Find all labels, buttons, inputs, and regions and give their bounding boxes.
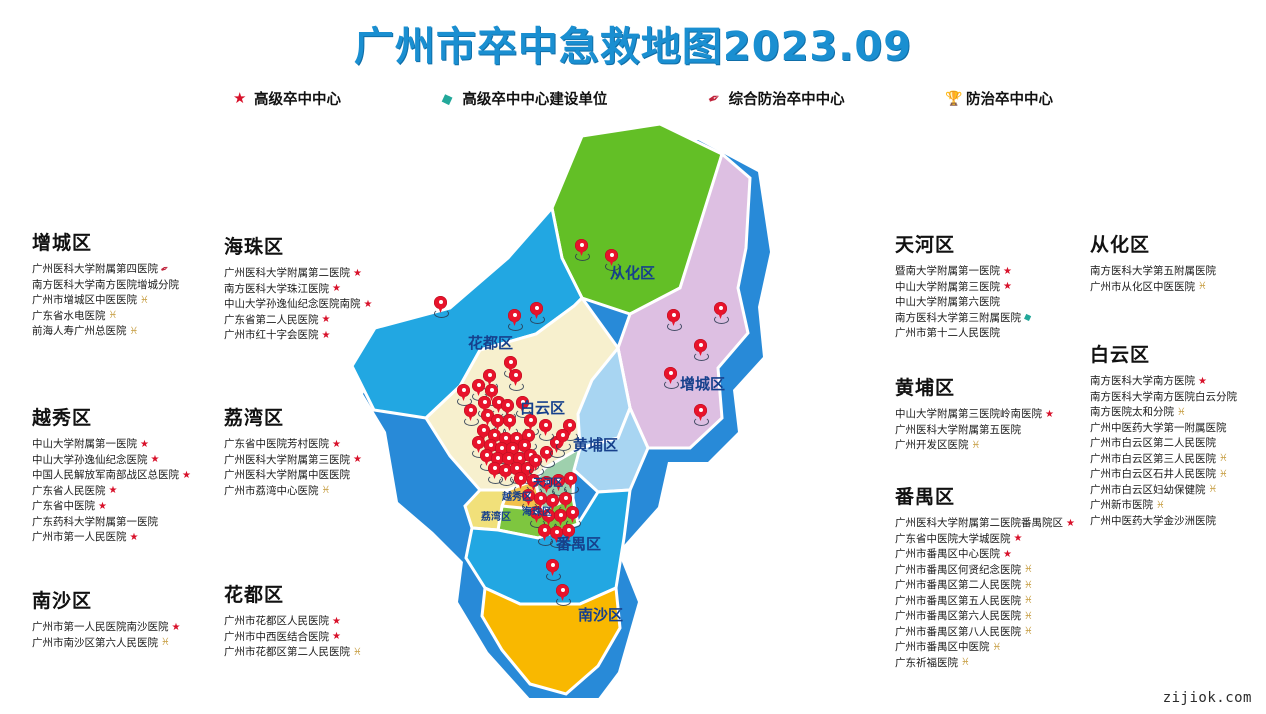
hospital-name: 广州市白云区第二人民医院 [1090, 436, 1216, 452]
hospital-list-tianhe: 暨南大学附属第一医院★中山大学附属第三医院★中山大学附属第六医院南方医科大学第三… [895, 264, 1032, 342]
hospital-list-haizhu: 广州医科大学附属第二医院★南方医科大学珠江医院★中山大学孙逸仙纪念医院南院★广东… [224, 266, 372, 344]
district-block-tianhe: 天河区 暨南大学附属第一医院★中山大学附属第三医院★中山大学附属第六医院南方医科… [895, 230, 1032, 342]
hospital-list-item: 广州新市医院♓ [1090, 498, 1237, 514]
hospital-list-item: 广州市番禺区第二人民医院♓ [895, 578, 1075, 594]
map-pin-icon[interactable] [516, 396, 529, 414]
hospital-name: 南方医科大学南方医院白云分院 [1090, 390, 1237, 406]
map-pin-icon[interactable] [556, 429, 569, 447]
map-pin-icon[interactable] [509, 369, 522, 387]
star-icon: ★ [172, 623, 181, 633]
hospital-list-item: 前海人寿广州总医院♓ [32, 324, 179, 340]
district-title-liwan: 荔湾区 [224, 403, 362, 430]
hospital-list-item: 广州市白云区第二人民医院 [1090, 436, 1237, 452]
trophy-icon: ♓ [1024, 627, 1033, 637]
hospital-list-item: 广州市白云区第三人民医院♓ [1090, 452, 1237, 468]
map-pin-icon[interactable] [694, 339, 707, 357]
map-pin-icon[interactable] [546, 559, 559, 577]
hospital-list-item: 广东省水电医院♓ [32, 309, 179, 325]
legend-label-prevention-center: 防治卒中中心 [966, 88, 1053, 109]
map-pin-icon[interactable] [556, 584, 569, 602]
hospital-list-item: 广州市第一人民医院★ [32, 530, 191, 546]
hospital-list-item: 中国人民解放军南部战区总医院★ [32, 468, 191, 484]
legend-item-prevention-center: 🏆 防治卒中中心 [945, 88, 1053, 109]
hospital-name: 广州医科大学附属中医医院 [224, 468, 350, 484]
district-block-yuexiu: 越秀区 中山大学附属第一医院★中山大学孙逸仙纪念医院★中国人民解放军南部战区总医… [32, 403, 191, 546]
hospital-list-huangpu: 中山大学附属第三医院岭南医院★广州医科大学附属第五医院广州开发区医院♓ [895, 407, 1054, 454]
hospital-list-item: 广州医科大学附属第四医院✒ [32, 262, 179, 278]
district-title-nansha: 南沙区 [32, 586, 180, 613]
hospital-list-item: 广州市花都区第二人民医院♓ [224, 645, 362, 661]
hospital-list-item: 广州市第十二人民医院 [895, 326, 1032, 342]
map-pin-icon[interactable] [664, 367, 677, 385]
hospital-name: 广州新市医院 [1090, 498, 1153, 514]
hospital-name: 广州开发区医院 [895, 438, 969, 454]
hospital-name: 广东省中医院芳村医院 [224, 437, 329, 453]
hospital-list-item: 广东省中医院大学城医院★ [895, 532, 1075, 548]
diamond-icon: ◆ [1023, 312, 1034, 324]
star-icon: ★ [1003, 282, 1012, 292]
hospital-list-baiyun: 南方医科大学南方医院★南方医科大学南方医院白云分院南方医院太和分院♓广州中医药大… [1090, 374, 1237, 529]
star-icon: ★ [1003, 267, 1012, 277]
trophy-icon: ♓ [972, 441, 981, 451]
hospital-list-item: 广州医科大学附属第二医院★ [224, 266, 372, 282]
watermark: zijiok.com [1163, 690, 1252, 706]
pen-icon: ✒ [159, 263, 171, 276]
hospital-name: 中山大学附属第三医院岭南医院 [895, 407, 1042, 423]
hospital-name: 南方医科大学第三附属医院 [895, 311, 1021, 327]
star-icon: ★ [1014, 534, 1023, 544]
hospital-name: 中山大学附属第三医院 [895, 280, 1000, 296]
district-block-zengcheng: 增城区 广州医科大学附属第四医院✒南方医科大学南方医院增城分院广州市增城区中医医… [32, 228, 179, 340]
hospital-name: 广州市红十字会医院 [224, 328, 319, 344]
hospital-name: 南方医科大学第五附属医院 [1090, 264, 1216, 280]
hospital-list-item: 广州市白云区石井人民医院♓ [1090, 467, 1237, 483]
district-title-panyu: 番禺区 [895, 482, 1075, 509]
hospital-list-item: 广州市番禺区第五人民医院♓ [895, 594, 1075, 610]
star-icon: ★ [1198, 377, 1207, 387]
hospital-list-item: 广州市第一人民医院南沙医院★ [32, 620, 180, 636]
hospital-list-item: 南方医科大学南方医院白云分院 [1090, 390, 1237, 406]
district-title-conghua: 从化区 [1090, 230, 1216, 257]
hospital-list-item: 广州市从化区中医医院♓ [1090, 280, 1216, 296]
hospital-name: 广州市白云区第三人民医院 [1090, 452, 1216, 468]
pen-icon: ✒ [705, 88, 725, 108]
hospital-list-panyu: 广州医科大学附属第二医院番禺院区★广东省中医院大学城医院★广州市番禺区中心医院★… [895, 516, 1075, 671]
map-pin-icon[interactable] [530, 302, 543, 320]
hospital-name: 广州市花都区人民医院 [224, 614, 329, 630]
trophy-icon: ♓ [1024, 581, 1033, 591]
trophy-icon: ♓ [1024, 596, 1033, 606]
map-pin-icon[interactable] [575, 239, 588, 257]
map-pin-icon[interactable] [472, 379, 485, 397]
hospital-list-liwan: 广东省中医院芳村医院★广州医科大学附属第三医院★广州医科大学附属中医医院广州市荔… [224, 437, 362, 499]
hospital-name: 广东祈福医院 [895, 656, 958, 672]
hospital-list-item: 广东祈福医院♓ [895, 656, 1075, 672]
hospital-list-item: 广州市中西医结合医院★ [224, 630, 362, 646]
hospital-list-item: 暨南大学附属第一医院★ [895, 264, 1032, 280]
district-title-baiyun: 白云区 [1090, 340, 1237, 367]
hospital-list-item: 广州市红十字会医院★ [224, 328, 372, 344]
star-icon: ★ [1045, 410, 1054, 420]
hospital-list-item: 广州市荔湾中心医院♓ [224, 484, 362, 500]
map-pin-icon[interactable] [694, 404, 707, 422]
map-pin-icon[interactable] [566, 506, 579, 524]
trophy-icon: 🏆 [945, 91, 960, 106]
star-icon: ★ [364, 300, 373, 310]
hospital-name: 广州市番禺区第五人民医院 [895, 594, 1021, 610]
star-icon: ★ [233, 91, 248, 106]
hospital-list-item: 广州中医药大学第一附属医院 [1090, 421, 1237, 437]
trophy-icon: ♓ [1024, 612, 1033, 622]
map-pin-icon[interactable] [605, 249, 618, 267]
hospital-list-item: 广州市南沙区第六人民医院♓ [32, 636, 180, 652]
hospital-name: 广东省中医院大学城医院 [895, 532, 1011, 548]
star-icon: ★ [332, 284, 341, 294]
hospital-list-item: 广州市花都区人民医院★ [224, 614, 362, 630]
star-icon: ★ [140, 440, 149, 450]
trophy-icon: ♓ [1198, 282, 1207, 292]
hospital-list-item: 广东省中医院★ [32, 499, 191, 515]
hospital-name: 广东省人民医院 [32, 484, 106, 500]
hospital-name: 广东药科大学附属第一医院 [32, 515, 158, 531]
hospital-name: 广州市番禺区第六人民医院 [895, 609, 1021, 625]
hospital-list-item: 中山大学附属第六医院 [895, 295, 1032, 311]
map-pin-icon[interactable] [464, 404, 477, 422]
hospital-name: 广州市增城区中医医院 [32, 293, 137, 309]
legend-item-comprehensive-center: ✒ 综合防治卒中中心 [708, 88, 845, 109]
hospital-name: 中山大学孙逸仙纪念医院 [32, 453, 148, 469]
district-title-yuexiu: 越秀区 [32, 403, 191, 430]
hospital-list-item: 广州医科大学附属第二医院番禺院区★ [895, 516, 1075, 532]
hospital-list-item: 南方医科大学南方医院增城分院 [32, 278, 179, 294]
map-pin-icon[interactable] [714, 302, 727, 320]
hospital-name: 前海人寿广州总医院 [32, 324, 127, 340]
hospital-name: 中山大学孙逸仙纪念医院南院 [224, 297, 361, 313]
legend-item-advanced-center: ★ 高级卒中中心 [233, 88, 341, 109]
star-icon: ★ [98, 502, 107, 512]
district-title-tianhe: 天河区 [895, 230, 1032, 257]
star-icon: ★ [1066, 519, 1075, 529]
map-pin-icon[interactable] [508, 309, 521, 327]
hospital-list-item: 广州市番禺区中心医院★ [895, 547, 1075, 563]
hospital-name: 南方医科大学南方医院增城分院 [32, 278, 179, 294]
hospital-list-conghua: 南方医科大学第五附属医院广州市从化区中医医院♓ [1090, 264, 1216, 295]
star-icon: ★ [322, 331, 331, 341]
map-pin-icon[interactable] [514, 472, 527, 490]
page-title-year: 2023.09 [723, 24, 912, 70]
hospital-name: 中国人民解放军南部战区总医院 [32, 468, 179, 484]
legend-label-advanced-center: 高级卒中中心 [254, 88, 341, 109]
page-title: 广州市卒中急救地图2023.09 [0, 14, 1266, 72]
hospital-list-item: 广州医科大学附属中医医院 [224, 468, 362, 484]
star-icon: ★ [332, 617, 341, 627]
hospital-list-item: 广州市番禺区第八人民医院♓ [895, 625, 1075, 641]
trophy-icon: ♓ [161, 638, 170, 648]
trophy-icon: ♓ [322, 486, 331, 496]
hospital-list-item: 广州开发区医院♓ [895, 438, 1054, 454]
hospital-name: 中山大学附属第六医院 [895, 295, 1000, 311]
hospital-name: 广州医科大学附属第三医院 [224, 453, 350, 469]
hospital-name: 南方医院太和分院 [1090, 405, 1174, 421]
district-block-haizhu: 海珠区 广州医科大学附属第二医院★南方医科大学珠江医院★中山大学孙逸仙纪念医院南… [224, 232, 372, 344]
hospital-name: 广州市从化区中医医院 [1090, 280, 1195, 296]
hospital-name: 南方医科大学南方医院 [1090, 374, 1195, 390]
map-pin-icon[interactable] [434, 296, 447, 314]
map-pin-icon[interactable] [457, 384, 470, 402]
hospital-list-item: 中山大学附属第一医院★ [32, 437, 191, 453]
district-block-huangpu: 黄埔区 中山大学附属第三医院岭南医院★广州医科大学附属第五医院广州开发区医院♓ [895, 373, 1054, 454]
hospital-list-item: 广州市番禺区中医院♓ [895, 640, 1075, 656]
hospital-list-item: 南方医科大学珠江医院★ [224, 282, 372, 298]
star-icon: ★ [109, 486, 118, 496]
trophy-icon: ♓ [1177, 408, 1186, 418]
hospital-name: 广州市中西医结合医院 [224, 630, 329, 646]
hospital-list-huadu: 广州市花都区人民医院★广州市中西医结合医院★广州市花都区第二人民医院♓ [224, 614, 362, 661]
hospital-list-item: 南方医科大学南方医院★ [1090, 374, 1237, 390]
hospital-name: 广州医科大学附属第五医院 [895, 423, 1021, 439]
map-pin-icon[interactable] [503, 414, 516, 432]
hospital-name: 广州市荔湾中心医院 [224, 484, 319, 500]
trophy-icon: ♓ [1219, 454, 1228, 464]
hospital-name: 广州市第十二人民医院 [895, 326, 1000, 342]
legend-label-advanced-building-unit: 高级卒中中心建设单位 [462, 88, 607, 109]
hospital-list-item: 中山大学附属第三医院★ [895, 280, 1032, 296]
map-pin-icon[interactable] [539, 419, 552, 437]
hospital-list-item: 广州市番禺区第六人民医院♓ [895, 609, 1075, 625]
hospital-list-item: 南方医院太和分院♓ [1090, 405, 1237, 421]
hospital-name: 广州市第一人民医院南沙医院 [32, 620, 169, 636]
district-block-baiyun: 白云区 南方医科大学南方医院★南方医科大学南方医院白云分院南方医院太和分院♓广州… [1090, 340, 1237, 529]
hospital-name: 广州市番禺区何贤纪念医院 [895, 563, 1021, 579]
hospital-name: 广州中医药大学金沙洲医院 [1090, 514, 1216, 530]
hospital-name: 广州中医药大学第一附属医院 [1090, 421, 1227, 437]
hospital-name: 中山大学附属第一医院 [32, 437, 137, 453]
hospital-name: 广州市白云区妇幼保健院 [1090, 483, 1206, 499]
hospital-list-item: 广州医科大学附属第三医院★ [224, 453, 362, 469]
district-title-zengcheng: 增城区 [32, 228, 179, 255]
hospital-list-nansha: 广州市第一人民医院南沙医院★广州市南沙区第六人民医院♓ [32, 620, 180, 651]
trophy-icon: ♓ [353, 648, 362, 658]
hospital-name: 暨南大学附属第一医院 [895, 264, 1000, 280]
trophy-icon: ♓ [1156, 501, 1165, 511]
map-pin-icon[interactable] [667, 309, 680, 327]
trophy-icon: ♓ [993, 643, 1002, 653]
hospital-list-item: 广东省人民医院★ [32, 484, 191, 500]
map-pin-icon[interactable] [564, 472, 577, 490]
hospital-list-item: 广州中医药大学金沙洲医院 [1090, 514, 1237, 530]
trophy-icon: ♓ [1219, 470, 1228, 480]
hospital-name: 广州医科大学附属第二医院番禺院区 [895, 516, 1063, 532]
hospital-list-item: 广州医科大学附属第五医院 [895, 423, 1054, 439]
star-icon: ★ [353, 269, 362, 279]
page-title-cn: 广州市卒中急救地图 [354, 25, 723, 69]
hospital-name: 广东省中医院 [32, 499, 95, 515]
star-icon: ★ [130, 533, 139, 543]
hospital-name: 广州市番禺区第八人民医院 [895, 625, 1021, 641]
legend-label-comprehensive-center: 综合防治卒中中心 [729, 88, 845, 109]
hospital-name: 广州市番禺区第二人民医院 [895, 578, 1021, 594]
hospital-name: 南方医科大学珠江医院 [224, 282, 329, 298]
trophy-icon: ♓ [1024, 565, 1033, 575]
hospital-list-item: 南方医科大学第三附属医院◆ [895, 311, 1032, 327]
star-icon: ★ [1003, 550, 1012, 560]
stroke-emergency-map-page: 广州市卒中急救地图2023.09 ★ 高级卒中中心 ◆ 高级卒中中心建设单位 ✒… [0, 0, 1266, 714]
hospital-name: 广州市白云区石井人民医院 [1090, 467, 1216, 483]
hospital-list-item: 南方医科大学第五附属医院 [1090, 264, 1216, 280]
trophy-icon: ♓ [140, 296, 149, 306]
star-icon: ★ [182, 471, 191, 481]
map-svg [330, 118, 910, 698]
trophy-icon: ♓ [961, 658, 970, 668]
district-block-nansha: 南沙区 广州市第一人民医院南沙医院★广州市南沙区第六人民医院♓ [32, 586, 180, 651]
hospital-list-item: 中山大学附属第三医院岭南医院★ [895, 407, 1054, 423]
map-pin-icon[interactable] [562, 524, 575, 542]
hospital-name: 广州市南沙区第六人民医院 [32, 636, 158, 652]
district-block-panyu: 番禺区 广州医科大学附属第二医院番禺院区★广东省中医院大学城医院★广州市番禺区中… [895, 482, 1075, 671]
hospital-list-item: 广州市番禺区何贤纪念医院♓ [895, 563, 1075, 579]
diamond-icon: ◆ [439, 88, 458, 107]
star-icon: ★ [332, 440, 341, 450]
hospital-name: 广州医科大学附属第二医院 [224, 266, 350, 282]
district-block-conghua: 从化区 南方医科大学第五附属医院广州市从化区中医医院♓ [1090, 230, 1216, 295]
guangzhou-district-map: 从化区花都区白云区增城区黄埔区天河区越秀区海珠区荔湾区番禺区南沙区 [330, 118, 910, 698]
legend-item-advanced-building-unit: ◆ 高级卒中中心建设单位 [441, 88, 607, 109]
map-districts [352, 124, 750, 694]
district-title-huangpu: 黄埔区 [895, 373, 1054, 400]
hospital-name: 广州市番禺区中医院 [895, 640, 990, 656]
hospital-list-item: 中山大学孙逸仙纪念医院★ [32, 453, 191, 469]
district-block-huadu: 花都区 广州市花都区人民医院★广州市中西医结合医院★广州市花都区第二人民医院♓ [224, 580, 362, 661]
hospital-name: 广州市番禺区中心医院 [895, 547, 1000, 563]
star-icon: ★ [151, 455, 160, 465]
hospital-name: 广东省第二人民医院 [224, 313, 319, 329]
hospital-name: 广州医科大学附属第四医院 [32, 262, 158, 278]
district-title-huadu: 花都区 [224, 580, 362, 607]
hospital-list-zengcheng: 广州医科大学附属第四医院✒南方医科大学南方医院增城分院广州市增城区中医医院♓广东… [32, 262, 179, 340]
trophy-icon: ♓ [1209, 485, 1218, 495]
star-icon: ★ [353, 455, 362, 465]
district-title-haizhu: 海珠区 [224, 232, 372, 259]
legend: ★ 高级卒中中心 ◆ 高级卒中中心建设单位 ✒ 综合防治卒中中心 🏆 防治卒中中… [233, 86, 1053, 110]
trophy-icon: ♓ [109, 311, 118, 321]
hospital-list-item: 中山大学孙逸仙纪念医院南院★ [224, 297, 372, 313]
hospital-list-item: 广州市增城区中医医院♓ [32, 293, 179, 309]
hospital-list-item: 广东药科大学附属第一医院 [32, 515, 191, 531]
hospital-list-item: 广东省中医院芳村医院★ [224, 437, 362, 453]
hospital-name: 广州市花都区第二人民医院 [224, 645, 350, 661]
star-icon: ★ [332, 632, 341, 642]
hospital-name: 广东省水电医院 [32, 309, 106, 325]
district-block-liwan: 荔湾区 广东省中医院芳村医院★广州医科大学附属第三医院★广州医科大学附属中医医院… [224, 403, 362, 499]
hospital-list-yuexiu: 中山大学附属第一医院★中山大学孙逸仙纪念医院★中国人民解放军南部战区总医院★广东… [32, 437, 191, 546]
trophy-icon: ♓ [130, 327, 139, 337]
hospital-name: 广州市第一人民医院 [32, 530, 127, 546]
star-icon: ★ [322, 315, 331, 325]
hospital-list-item: 广东省第二人民医院★ [224, 313, 372, 329]
hospital-list-item: 广州市白云区妇幼保健院♓ [1090, 483, 1237, 499]
